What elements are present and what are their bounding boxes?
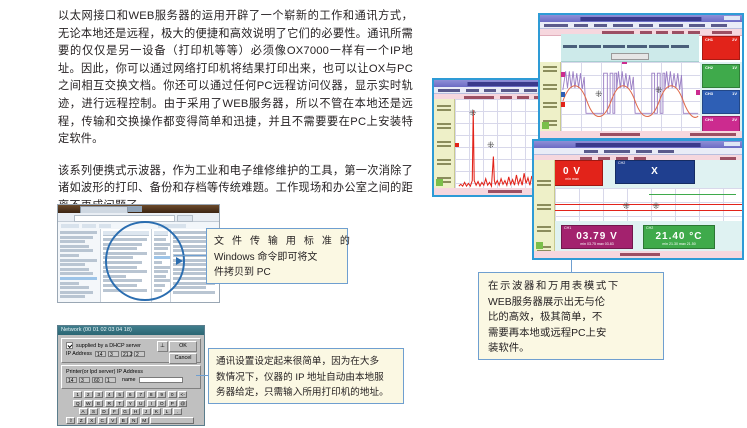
key-2[interactable]: 2 bbox=[84, 391, 93, 398]
cursor-marker-2-icon[interactable]: ⁜ bbox=[487, 141, 495, 150]
key-g[interactable]: G bbox=[121, 408, 130, 415]
menu-instrument[interactable] bbox=[438, 89, 460, 92]
dmm-reading-caption-1: CH1 bbox=[562, 226, 632, 230]
network-dialog-title: Network (00 01 02 03 04 18) bbox=[58, 326, 204, 335]
dmm-top-caption-2: CH2 bbox=[616, 161, 694, 165]
dmm-content: CH1 0 V min max CH2 X ⁜ ⁜ CH1 03.79 bbox=[534, 160, 742, 251]
callout-file-line-2: Windows 命令即可将文 bbox=[214, 250, 340, 266]
menu-horizontal[interactable] bbox=[501, 89, 519, 92]
menu-display[interactable] bbox=[524, 89, 537, 92]
key-h[interactable]: H bbox=[131, 408, 140, 415]
ip-octet-2[interactable]: 3 bbox=[108, 351, 119, 357]
callout-web-server: 在示波器和万用表模式下 WEB服务器展示出无与伦 比的高效，极其简单，不 需要再… bbox=[478, 272, 664, 360]
trigger-marker-icon[interactable] bbox=[622, 62, 627, 64]
explorer-nav-pane[interactable] bbox=[58, 229, 101, 302]
key-l[interactable]: L bbox=[163, 408, 172, 415]
dmm-top-sub-1: min max bbox=[555, 177, 602, 181]
callout-web-line-5: 装软件。 bbox=[488, 341, 654, 357]
leader-line-network bbox=[196, 375, 208, 376]
callout-net-line-3: 务器给定，只需输入所用打印机的地址。 bbox=[216, 385, 396, 401]
fft-channel-sidebar[interactable] bbox=[434, 99, 455, 188]
menu-instrument[interactable] bbox=[544, 24, 568, 27]
callout-web-line-4: 需要再本地或远程PC上安 bbox=[488, 326, 654, 342]
dmm-title-text bbox=[576, 143, 701, 147]
dmm-cursor-2-icon[interactable]: ⁜ bbox=[652, 202, 660, 211]
go-button[interactable] bbox=[177, 215, 193, 222]
printer-group: Printer(or lpd server) IP Address 14 3 6… bbox=[61, 365, 201, 389]
printer-octet-4[interactable]: 1 bbox=[105, 377, 116, 383]
key-n[interactable]: N bbox=[129, 417, 138, 424]
toolbar-chip-view[interactable] bbox=[82, 224, 96, 228]
scope-menu-bar[interactable] bbox=[540, 22, 742, 29]
key-q[interactable]: Q bbox=[73, 400, 82, 407]
scope-title-text bbox=[580, 17, 701, 21]
menu-display[interactable] bbox=[639, 24, 653, 27]
article-body: 以太网接口和WEB服务器的运用开辟了一个崭新的工作和通讯方式，无论本地还是远程，… bbox=[58, 8, 413, 230]
keyboard-row-2: Q W E R T Y U I O P @ bbox=[61, 400, 201, 407]
status-indicator bbox=[536, 242, 543, 249]
measurement-info-panel bbox=[561, 34, 699, 62]
key-u[interactable]: U bbox=[136, 400, 145, 407]
ip-address-label: IP Address bbox=[66, 351, 92, 357]
explorer-tab-secondary bbox=[128, 206, 142, 212]
measurement-ch1[interactable]: CH12V bbox=[702, 36, 740, 60]
info-close-button[interactable] bbox=[611, 53, 649, 60]
network-settings-dialog-screenshot: Network (00 01 02 03 04 18) OK Cancel ⊥ … bbox=[57, 325, 205, 426]
scope-channel-sidebar[interactable] bbox=[540, 62, 561, 131]
channel-marker-icon[interactable] bbox=[455, 143, 459, 147]
ip-octet-4[interactable]: 2 bbox=[134, 351, 145, 357]
key-f[interactable]: F bbox=[110, 408, 119, 415]
key-d[interactable]: D bbox=[100, 408, 109, 415]
dmm-channel-sidebar[interactable] bbox=[534, 160, 555, 251]
menu-measurement[interactable] bbox=[604, 150, 630, 153]
menu-horizontal[interactable] bbox=[613, 24, 633, 27]
explorer-title-bar bbox=[58, 205, 219, 213]
dmm-reading-unit-1: V bbox=[610, 231, 618, 242]
keyboard-row-4: ⇧ Z X C V B N M bbox=[61, 417, 201, 424]
menu-utilities[interactable] bbox=[711, 24, 727, 27]
dmm-reading-sub-1: min 03.75 max 03.83 bbox=[562, 242, 632, 246]
ch-marker-2-icon[interactable] bbox=[561, 92, 565, 97]
ch-marker-3-icon[interactable] bbox=[561, 102, 565, 107]
scope-title-bar bbox=[540, 15, 742, 22]
printer-octet-1[interactable]: 14 bbox=[66, 377, 77, 383]
printer-name-input[interactable] bbox=[139, 377, 183, 383]
sidebar-ch1[interactable] bbox=[536, 178, 552, 194]
dmm-reading-unit-2: °C bbox=[689, 231, 702, 242]
dmm-graph: ⁜ ⁜ bbox=[555, 188, 742, 221]
key-s[interactable]: S bbox=[89, 408, 98, 415]
windows-explorer-screenshot bbox=[57, 204, 220, 303]
scope-content: ⁜ ⁜ CH12V CH21V CH31V CH42V bbox=[540, 62, 742, 131]
menu-memory[interactable] bbox=[689, 24, 705, 27]
toolbar-chip-share[interactable] bbox=[99, 224, 111, 228]
menu-memory[interactable] bbox=[636, 150, 652, 153]
key-z[interactable]: Z bbox=[77, 417, 86, 424]
sidebar-ch2[interactable] bbox=[542, 82, 558, 98]
dmm-top-value-2: X bbox=[616, 166, 694, 177]
paragraph-1: 以太网接口和WEB服务器的运用开辟了一个崭新的工作和通讯方式，无论本地还是远程，… bbox=[58, 8, 413, 149]
key-0[interactable]: 0 bbox=[168, 391, 177, 398]
scope-footer bbox=[540, 131, 742, 138]
cursor-marker-2-icon[interactable]: ⁜ bbox=[655, 86, 663, 95]
sidebar-ch3[interactable] bbox=[536, 224, 552, 240]
key-e[interactable]: E bbox=[94, 400, 103, 407]
scope-traces bbox=[561, 62, 700, 131]
virtual-keyboard[interactable]: 1 2 3 4 5 6 7 8 9 0 <- Q W E R T Y U I bbox=[61, 391, 201, 424]
key-b[interactable]: B bbox=[119, 417, 128, 424]
dmm-plot-area[interactable]: CH1 0 V min max CH2 X ⁜ ⁜ CH1 03.79 bbox=[555, 160, 742, 251]
callout-file-transfer: 文 件 传 输 用 标 准 的 Windows 命令即可将文 件拷贝到 PC bbox=[206, 228, 348, 284]
footer-timestamp bbox=[690, 133, 736, 136]
callout-network-setup: 通讯设置设定起来很简单，因为在大多 数情况下，仪器的 IP 地址自动由本地服 务… bbox=[208, 348, 404, 404]
callout-web-line-3: 比的高效，极其简单，不 bbox=[488, 310, 654, 326]
callout-net-line-1: 通讯设置设定起来很简单，因为在大多 bbox=[216, 354, 396, 370]
sidebar-ch3[interactable] bbox=[436, 139, 452, 155]
dmm-top-value-1: 0 bbox=[563, 166, 570, 177]
dmm-top-panel-1[interactable]: CH1 0 V min max bbox=[555, 160, 603, 186]
ip-octet-1[interactable]: 14 bbox=[95, 351, 106, 357]
key-period[interactable]: . bbox=[173, 408, 182, 415]
scope-measurement-sidebar[interactable]: CH12V CH21V CH31V CH42V bbox=[700, 62, 742, 131]
callout-web-line-1: 在示波器和万用表模式下 bbox=[488, 279, 654, 295]
menu-vertical[interactable] bbox=[574, 24, 588, 27]
printer-octet-2[interactable]: 3 bbox=[79, 377, 90, 383]
key-backspace[interactable]: <- bbox=[178, 391, 187, 398]
measurement-ch3[interactable]: CH31V bbox=[702, 90, 740, 114]
submenu-auto-period[interactable] bbox=[712, 31, 732, 34]
sidebar-ch2[interactable] bbox=[436, 121, 452, 137]
status-indicator bbox=[436, 179, 443, 186]
dmm-reading-2[interactable]: CH2 21.40 °C min 21.30 max 21.50 bbox=[643, 225, 715, 249]
address-input[interactable] bbox=[74, 215, 175, 222]
key-6[interactable]: 6 bbox=[126, 391, 135, 398]
key-x[interactable]: X bbox=[87, 417, 96, 424]
footer-status bbox=[600, 133, 640, 136]
dmm-reading-value-1: 03.79 bbox=[576, 231, 606, 242]
key-y[interactable]: Y bbox=[126, 400, 135, 407]
toolbar-chip-organize[interactable] bbox=[61, 224, 79, 228]
dmm-top-unit-1: V bbox=[573, 166, 581, 177]
callout-net-line-2: 数情况下，仪器的 IP 地址自动由本地服 bbox=[216, 370, 396, 386]
key-space[interactable] bbox=[150, 417, 194, 424]
dmm-top-panel-2[interactable]: CH2 X bbox=[615, 160, 695, 184]
key-p[interactable]: P bbox=[168, 400, 177, 407]
dhcp-checkbox[interactable] bbox=[66, 342, 73, 349]
key-5[interactable]: 5 bbox=[115, 391, 124, 398]
footer-status bbox=[620, 253, 660, 256]
measurement-ch2[interactable]: CH21V bbox=[702, 64, 740, 88]
key-i[interactable]: I bbox=[147, 400, 156, 407]
multimeter-screenshot: CH1 0 V min max CH2 X ⁜ ⁜ CH1 03.79 bbox=[532, 139, 744, 260]
brand-logo-icon bbox=[724, 16, 740, 20]
key-o[interactable]: O bbox=[157, 400, 166, 407]
printer-group-label: Printer(or lpd server) IP Address bbox=[66, 369, 197, 375]
menu-vertical[interactable] bbox=[466, 89, 479, 92]
printer-octet-3[interactable]: 60 bbox=[92, 377, 103, 383]
key-4[interactable]: 4 bbox=[105, 391, 114, 398]
sidebar-ch3[interactable] bbox=[542, 100, 558, 116]
annotation-circle bbox=[105, 221, 185, 301]
updown-button[interactable]: ⊥ bbox=[157, 341, 168, 352]
leader-line-web bbox=[571, 260, 572, 272]
sidebar-ch2[interactable] bbox=[536, 202, 552, 218]
dhcp-checkbox-label: supplied by a DHCP server bbox=[76, 343, 141, 349]
cursor-marker-1-icon[interactable]: ⁜ bbox=[595, 90, 603, 99]
key-at[interactable]: @ bbox=[178, 400, 187, 407]
dmm-menu-bar[interactable] bbox=[534, 148, 742, 155]
callout-web-line-2: WEB服务器展示出无与伦 bbox=[488, 295, 654, 311]
dmm-cursor-1-icon[interactable]: ⁜ bbox=[622, 202, 630, 211]
key-3[interactable]: 3 bbox=[94, 391, 103, 398]
keyboard-row-1: 1 2 3 4 5 6 7 8 9 0 <- bbox=[61, 391, 201, 398]
key-w[interactable]: W bbox=[84, 400, 93, 407]
brand-logo-icon bbox=[724, 142, 740, 146]
key-c[interactable]: C bbox=[98, 417, 107, 424]
dmm-reading-caption-2: CH2 bbox=[644, 226, 714, 230]
keyboard-row-3: A S D F G H J K L . bbox=[61, 408, 201, 415]
oscilloscope-screenshot: ⁜ ⁜ CH12V CH21V CH31V CH42V bbox=[538, 13, 744, 140]
printer-name-label: name bbox=[122, 377, 136, 383]
dmm-top-caption-1: CH1 bbox=[555, 161, 602, 165]
key-k[interactable]: K bbox=[152, 408, 161, 415]
leader-line-file bbox=[174, 255, 208, 256]
key-m[interactable]: M bbox=[140, 417, 149, 424]
dmm-reading-value-2: 21.40 bbox=[655, 231, 685, 242]
cursor-marker-1-icon[interactable]: ⁜ bbox=[469, 109, 477, 118]
ok-button[interactable]: OK bbox=[169, 341, 197, 352]
key-1[interactable]: 1 bbox=[73, 391, 82, 398]
scope-plot-area[interactable]: ⁜ ⁜ bbox=[561, 62, 700, 131]
ip-octet-3[interactable]: 21.2 bbox=[121, 351, 132, 357]
sidebar-ch4[interactable] bbox=[436, 157, 452, 173]
dmm-footer bbox=[534, 251, 742, 258]
key-a[interactable]: A bbox=[79, 408, 88, 415]
menu-trigger[interactable] bbox=[484, 89, 496, 92]
key-t[interactable]: T bbox=[115, 400, 124, 407]
key-r[interactable]: R bbox=[105, 400, 114, 407]
dmm-title-bar bbox=[534, 141, 742, 148]
footer-status bbox=[488, 190, 522, 193]
sidebar-ch1[interactable] bbox=[436, 103, 452, 119]
callout-file-line-3: 件拷贝到 PC bbox=[214, 265, 340, 281]
cancel-button[interactable]: Cancel bbox=[169, 353, 197, 364]
menu-measurement[interactable] bbox=[659, 24, 683, 27]
key-7[interactable]: 7 bbox=[136, 391, 145, 398]
dhcp-group: OK Cancel ⊥ supplied by a DHCP server IP… bbox=[61, 338, 201, 363]
status-indicator bbox=[542, 122, 549, 129]
key-j[interactable]: J bbox=[142, 408, 151, 415]
key-9[interactable]: 9 bbox=[157, 391, 166, 398]
dmm-reading-1[interactable]: CH1 03.79 V min 03.75 max 03.83 bbox=[561, 225, 633, 249]
menu-utilities[interactable] bbox=[658, 150, 674, 153]
key-shift-icon[interactable]: ⇧ bbox=[66, 417, 75, 424]
key-v[interactable]: V bbox=[108, 417, 117, 424]
sidebar-ch1[interactable] bbox=[542, 64, 558, 80]
annotation-arrow-icon bbox=[176, 257, 183, 265]
dmm-reading-sub-2: min 21.30 max 21.50 bbox=[644, 242, 714, 246]
menu-trigger[interactable] bbox=[594, 24, 607, 27]
ch-marker-1-icon[interactable] bbox=[561, 72, 565, 77]
key-8[interactable]: 8 bbox=[147, 391, 156, 398]
menu-display[interactable] bbox=[584, 150, 598, 153]
callout-file-line-1: 文 件 传 输 用 标 准 的 bbox=[214, 234, 340, 250]
